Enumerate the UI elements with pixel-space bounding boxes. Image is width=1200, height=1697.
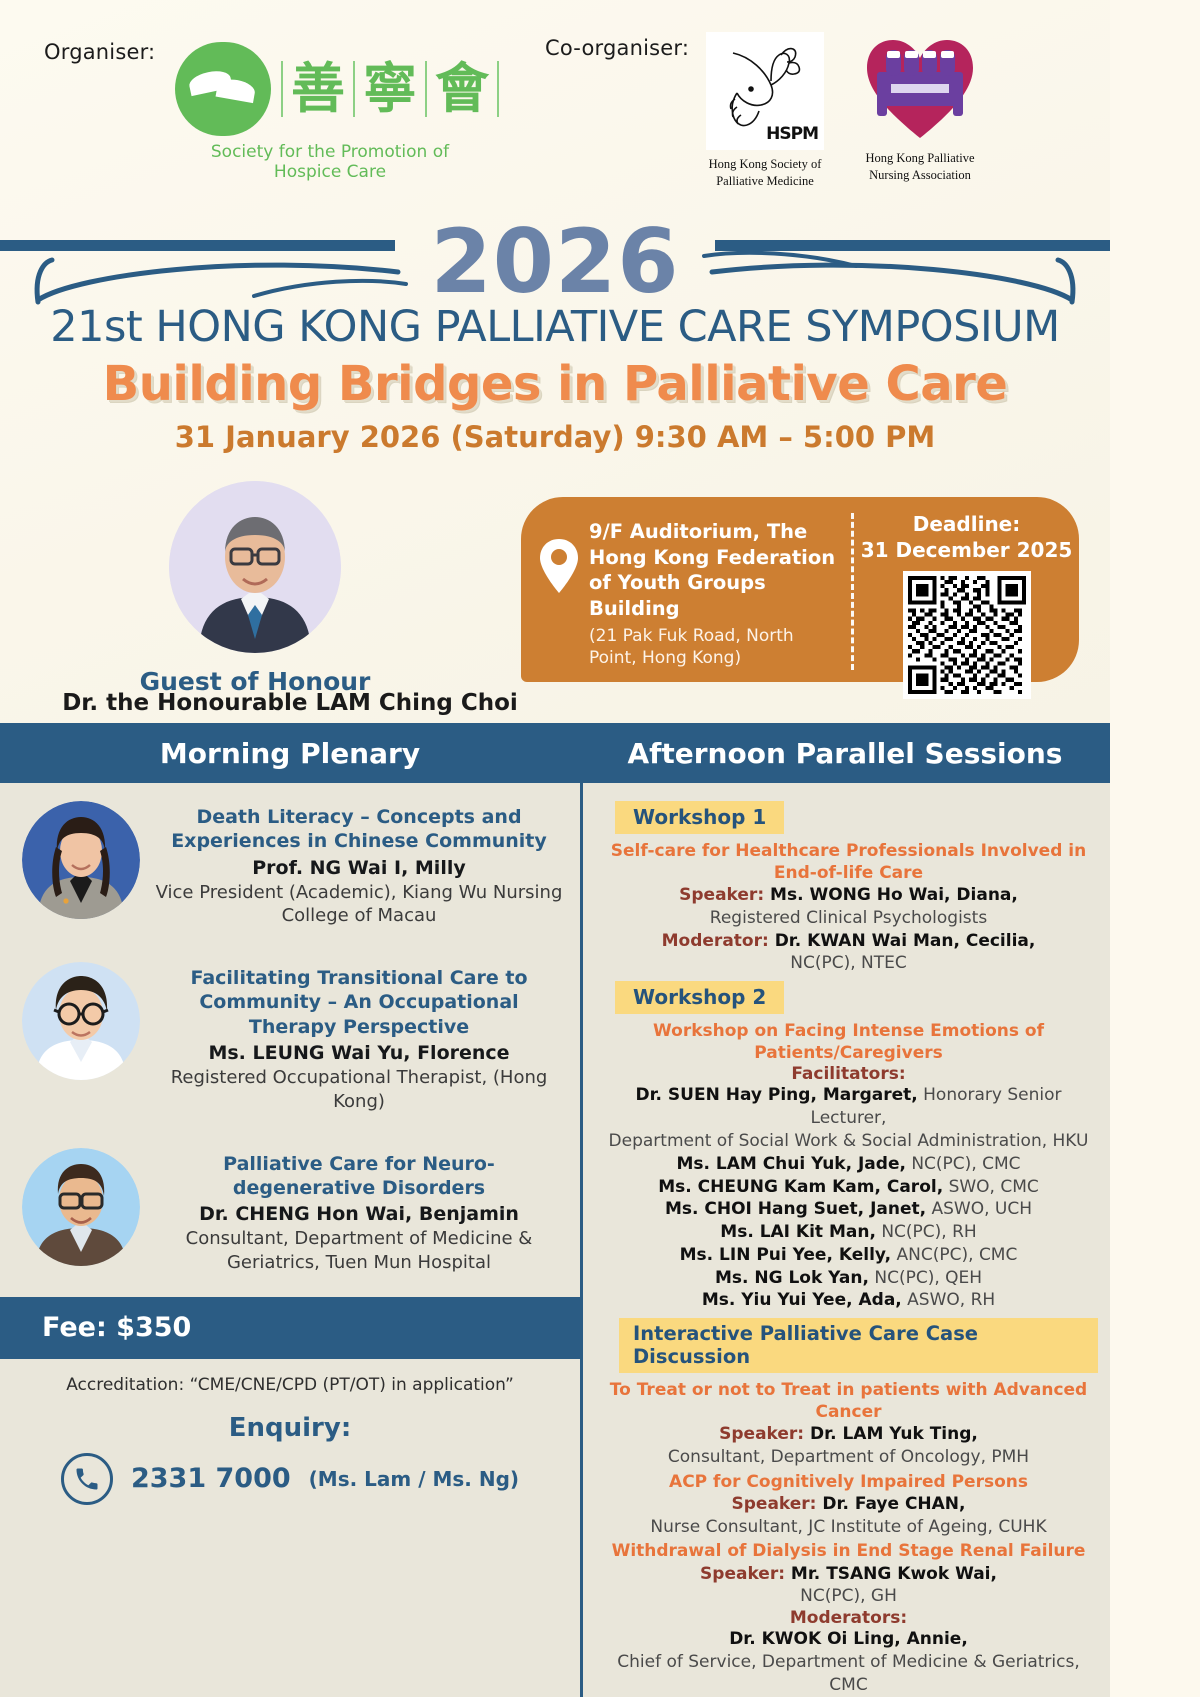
guest-of-honour-block: Guest of Honour <box>135 481 375 696</box>
plenary-speaker-name: Dr. CHENG Hon Wai, Benjamin <box>154 1203 564 1225</box>
avatar <box>22 962 140 1080</box>
moderator-name: Dr. KWAN Wai Man, Cecilia, <box>769 931 1036 951</box>
theme-title: Building Bridges in Palliative Care <box>0 356 1110 412</box>
poster-root: Organiser: 善 寧 會 Society for the Promoti… <box>0 0 1110 1697</box>
speaker-role-label: Speaker: <box>732 1494 817 1514</box>
enquiry-phone[interactable]: 2331 7000 <box>131 1463 291 1494</box>
programme-body: Death Literacy – Concepts and Experience… <box>0 783 1110 1697</box>
hkpna-caption-line1: Hong Kong Palliative <box>855 150 985 167</box>
facilitators-label: Facilitators: <box>603 1064 1094 1084</box>
organiser-logo: 善 寧 會 Society for the Promotion of Hospi… <box>175 42 485 182</box>
facilitator-row: Dr. SUEN Hay Ping, Margaret, Honorary Se… <box>603 1084 1094 1130</box>
case-speaker-line: Speaker: Mr. TSANG Kwok Wai, <box>603 1563 1094 1586</box>
speaker-role-label: Speaker: <box>700 1564 785 1584</box>
title-banner: 2026 21st HONG KONG PALLIATIVE CARE SYMP… <box>0 198 1110 478</box>
facilitator-affil: NC(PC), QEH <box>869 1268 982 1288</box>
phone-icon <box>61 1453 113 1505</box>
facilitator-name: Ms. CHOI Hang Suet, Janet, <box>665 1199 926 1219</box>
venue-card: 9/F Auditorium, The Hong Kong Federation… <box>521 497 1079 682</box>
fee-bar: Fee: $350 <box>0 1297 580 1359</box>
facilitator-affil: SWO, CMC <box>943 1177 1039 1197</box>
case-speaker-affil: NC(PC), GH <box>603 1585 1094 1608</box>
workshop-2-chip: Workshop 2 <box>615 981 784 1014</box>
case-speaker-line: Speaker: Dr. Faye CHAN, <box>603 1493 1094 1516</box>
workshop-1-speaker-affil: Registered Clinical Psychologists <box>603 907 1094 930</box>
facilitator-name: Ms. Yiu Yui Yee, Ada, <box>702 1290 902 1310</box>
deadline-date: 31 December 2025 <box>854 537 1079 563</box>
chinese-char-1: 善 <box>281 61 353 118</box>
facilitator-name: Dr. SUEN Hay Ping, Margaret, <box>635 1085 917 1105</box>
case-topic-title: To Treat or not to Treat in patients wit… <box>603 1379 1094 1423</box>
venue-divider <box>851 513 854 670</box>
workshop-1-moderator-affil: NC(PC), NTEC <box>603 952 1094 975</box>
facilitator-affil: NC(PC), CMC <box>906 1154 1021 1174</box>
case-discussion-chip: Interactive Palliative Care Case Discuss… <box>619 1318 1098 1373</box>
workshop-1-chip: Workshop 1 <box>615 801 784 834</box>
organiser-name: Society for the Promotion of Hospice Car… <box>175 142 485 182</box>
facilitator-row: Ms. NG Lok Yan, NC(PC), QEH <box>603 1267 1094 1290</box>
workshop-2-block: Workshop on Facing Intense Emotions of P… <box>599 1020 1098 1312</box>
moderator-role-label: Moderator: <box>662 931 769 951</box>
coorganiser-label: Co-organiser: <box>545 36 689 60</box>
avatar <box>22 801 140 919</box>
year-2026: 2026 <box>0 210 1110 313</box>
facilitator-row: Ms. Yiu Yui Yee, Ada, ASWO, RH <box>603 1289 1094 1312</box>
section-header-bar: Morning Plenary Afternoon Parallel Sessi… <box>0 723 1110 783</box>
plenary-speaker-affiliation: Consultant, Department of Medicine & Ger… <box>154 1227 564 1275</box>
case-speaker-line: Speaker: Dr. LAM Yuk Ting, <box>603 1423 1094 1446</box>
organiser-label: Organiser: <box>44 40 155 64</box>
plenary-speaker-affiliation: Vice President (Academic), Kiang Wu Nurs… <box>154 881 564 929</box>
case-topic-title: Withdrawal of Dialysis in End Stage Rena… <box>603 1540 1094 1562</box>
registration-qr-code[interactable] <box>903 571 1031 699</box>
afternoon-sessions-column: Workshop 1 Self-care for Healthcare Prof… <box>580 783 1110 1697</box>
enquiry-label: Enquiry: <box>0 1413 580 1443</box>
venue-details: 9/F Auditorium, The Hong Kong Federation… <box>521 497 851 682</box>
morning-plenary-column: Death Literacy – Concepts and Experience… <box>0 783 580 1697</box>
workshop-1-moderator-line: Moderator: Dr. KWAN Wai Man, Cecilia, <box>603 930 1094 953</box>
speaker-name: Mr. TSANG Kwok Wai, <box>785 1564 997 1584</box>
green-egg-birds-icon <box>175 42 271 136</box>
plenary-speaker-2: Facilitating Transitional Care to Commun… <box>0 944 580 1119</box>
organiser-chinese-chars: 善 寧 會 <box>281 61 499 118</box>
coorganiser-logo-hkspm: HSPM Hong Kong Society of Palliative Med… <box>700 32 830 190</box>
workshop-1-speaker-line: Speaker: Ms. WONG Ho Wai, Diana, <box>603 884 1094 907</box>
facilitator-name: Ms. NG Lok Yan, <box>715 1268 869 1288</box>
facilitator-affil-cont: Department of Social Work & Social Admin… <box>603 1130 1094 1153</box>
case-speaker-affil: Consultant, Department of Oncology, PMH <box>603 1446 1094 1469</box>
coorganiser-logo-hkpna: Hong Kong Palliative Nursing Association <box>855 26 985 184</box>
facilitator-name: Ms. LIN Pui Yee, Kelly, <box>680 1245 892 1265</box>
facilitator-affil: ASWO, RH <box>902 1290 995 1310</box>
morning-plenary-heading: Morning Plenary <box>0 737 580 770</box>
venue-name: 9/F Auditorium, The Hong Kong Federation… <box>589 519 837 622</box>
plenary-speaker-3: Palliative Care for Neuro-degenerative D… <box>0 1130 580 1281</box>
plenary-title: Death Literacy – Concepts and Experience… <box>154 805 564 854</box>
deadline-block: Deadline: 31 December 2025 <box>854 497 1079 682</box>
chinese-char-3: 會 <box>425 61 499 118</box>
hkpna-caption-line2: Nursing Association <box>855 167 985 184</box>
workshop-1-block: Self-care for Healthcare Professionals I… <box>599 840 1098 975</box>
guest-of-honour-avatar <box>169 481 341 653</box>
facilitator-name: Ms. LAM Chui Yuk, Jade, <box>676 1154 905 1174</box>
facilitator-row: Ms. LAM Chui Yuk, Jade, NC(PC), CMC <box>603 1153 1094 1176</box>
logo-header: Organiser: 善 寧 會 Society for the Promoti… <box>0 0 1110 198</box>
plenary-title: Palliative Care for Neuro-degenerative D… <box>154 1152 564 1201</box>
coorganiser-caption-hkspm: Hong Kong Society of Palliative Medicine <box>700 156 830 190</box>
symposium-title: 21st HONG KONG PALLIATIVE CARE SYMPOSIUM <box>0 302 1110 352</box>
fee-label: Fee: $350 <box>42 1312 191 1343</box>
moderator-affil: Chief of Service, Department of Medicine… <box>603 1651 1094 1697</box>
plenary-title: Facilitating Transitional Care to Commun… <box>154 966 564 1039</box>
facilitator-row: Ms. LIN Pui Yee, Kelly, ANC(PC), CMC <box>603 1244 1094 1267</box>
deadline-label: Deadline: <box>854 511 1079 537</box>
facilitator-affil: NC(PC), RH <box>876 1222 977 1242</box>
speaker-role-label: Speaker: <box>719 1424 804 1444</box>
moderator-name: Dr. KWOK Oi Ling, Annie, <box>729 1629 968 1649</box>
plenary-speaker-affiliation: Registered Occupational Therapist, (Hong… <box>154 1066 564 1114</box>
location-pin-icon <box>539 519 581 682</box>
workshop-2-title: Workshop on Facing Intense Emotions of P… <box>603 1020 1094 1064</box>
speaker-name: Dr. Faye CHAN, <box>816 1494 965 1514</box>
hkspm-caption-line1: Hong Kong Society of <box>700 156 830 173</box>
moderator-row: Dr. KWOK Oi Ling, Annie, <box>603 1628 1094 1651</box>
hkspm-wordmark: HSPM <box>766 124 818 144</box>
case-discussion-block: To Treat or not to Treat in patients wit… <box>599 1379 1098 1697</box>
facilitator-row: Ms. CHEUNG Kam Kam, Carol, SWO, CMC <box>603 1176 1094 1199</box>
case-topic-title: ACP for Cognitively Impaired Persons <box>603 1471 1094 1493</box>
facilitator-row: Ms. LAI Kit Man, NC(PC), RH <box>603 1221 1094 1244</box>
guest-of-honour-name: Dr. the Honourable LAM Ching Choi <box>0 690 580 716</box>
enquiry-contacts: (Ms. Lam / Ms. Ng) <box>309 1467 519 1491</box>
avatar <box>22 1148 140 1266</box>
hkspm-caption-line2: Palliative Medicine <box>700 173 830 190</box>
chinese-char-2: 寧 <box>353 61 425 118</box>
workshop-1-title: Self-care for Healthcare Professionals I… <box>603 840 1094 884</box>
heart-nurses-bed-icon <box>855 26 985 144</box>
plenary-speaker-name: Ms. LEUNG Wai Yu, Florence <box>154 1042 564 1064</box>
enquiry-row: 2331 7000 (Ms. Lam / Ms. Ng) <box>0 1453 580 1523</box>
facilitator-affil: ASWO, UCH <box>926 1199 1032 1219</box>
speaker-role-label: Speaker: <box>679 885 764 905</box>
facilitator-row: Ms. CHOI Hang Suet, Janet, ASWO, UCH <box>603 1198 1094 1221</box>
afternoon-sessions-heading: Afternoon Parallel Sessions <box>580 737 1110 770</box>
venue-address: (21 Pak Fuk Road, North Point, Hong Kong… <box>589 625 837 669</box>
moderators-label: Moderators: <box>603 1608 1094 1628</box>
plenary-speaker-1: Death Literacy – Concepts and Experience… <box>0 783 580 934</box>
speaker-name: Dr. LAM Yuk Ting, <box>804 1424 978 1444</box>
accreditation-note: Accreditation: “CME/CNE/CPD (PT/OT) in a… <box>0 1359 580 1395</box>
plenary-speaker-name: Prof. NG Wai I, Milly <box>154 857 564 879</box>
coorganiser-caption-hkpna: Hong Kong Palliative Nursing Association <box>855 150 985 184</box>
facilitator-affil: ANC(PC), CMC <box>891 1245 1017 1265</box>
facilitator-name: Ms. CHEUNG Kam Kam, Carol, <box>658 1177 943 1197</box>
case-speaker-affil: Nurse Consultant, JC Institute of Ageing… <box>603 1516 1094 1539</box>
speaker-name: Ms. WONG Ho Wai, Diana, <box>764 885 1018 905</box>
event-datetime: 31 January 2026 (Saturday) 9:30 AM – 5:0… <box>0 420 1110 454</box>
guest-and-venue-row: Guest of Honour 9/F Auditorium, The Hong… <box>0 478 1110 723</box>
facilitator-name: Ms. LAI Kit Man, <box>720 1222 876 1242</box>
